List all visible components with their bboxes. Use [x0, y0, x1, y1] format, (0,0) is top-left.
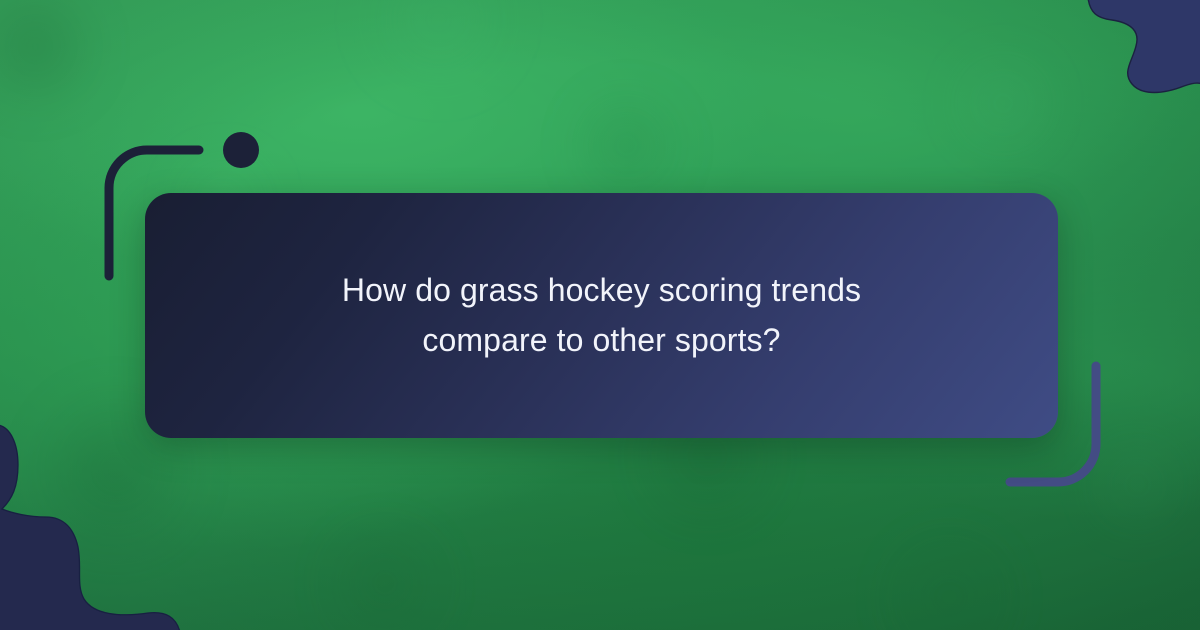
- bottom-left-blob-decoration: [0, 417, 228, 630]
- dot-icon: [223, 132, 259, 168]
- card-title: How do grass hockey scoring trends compa…: [272, 266, 932, 365]
- top-right-blob-decoration: [992, 0, 1200, 138]
- question-card: How do grass hockey scoring trends compa…: [145, 193, 1058, 438]
- social-card-canvas: How do grass hockey scoring trends compa…: [0, 0, 1200, 630]
